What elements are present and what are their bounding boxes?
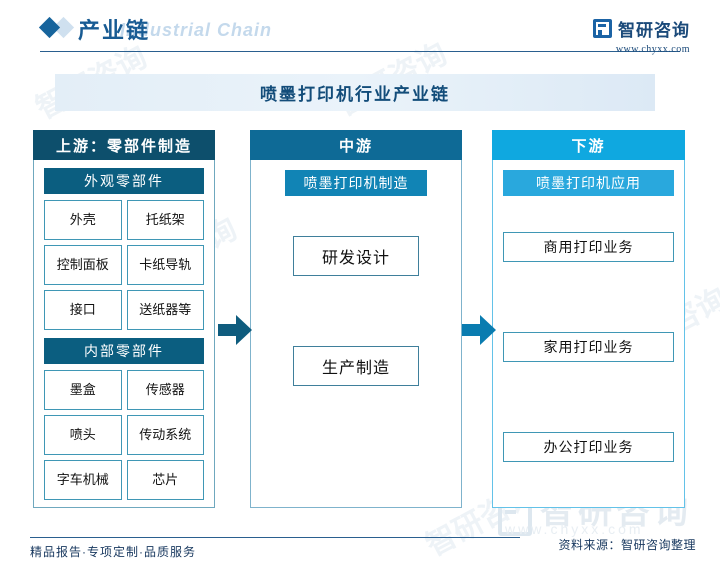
chain-item[interactable]: 商用打印业务 — [503, 232, 674, 262]
chain-item[interactable]: 生产制造 — [293, 346, 419, 386]
chain-item[interactable]: 传感器 — [127, 370, 205, 410]
chain-item[interactable]: 传动系统 — [127, 415, 205, 455]
brand-logo: 智研咨询 www.chyxx.com — [593, 16, 690, 55]
chain-item[interactable]: 芯片 — [127, 460, 205, 500]
group-header-printer-application: 喷墨打印机应用 — [503, 170, 674, 196]
brand-name: 智研咨询 — [618, 16, 690, 41]
header-divider — [40, 51, 680, 52]
footer-source: 资料来源：智研咨询整理 — [558, 536, 696, 553]
chain-item[interactable]: 字车机械 — [44, 460, 122, 500]
column-downstream-body: 喷墨打印机应用 商用打印业务 家用打印业务 办公打印业务 — [492, 160, 685, 508]
brand-mark-icon — [593, 19, 612, 38]
chain-item[interactable]: 办公打印业务 — [503, 432, 674, 462]
column-upstream: 上游：零部件制造 外观零部件 外壳 托纸架 控制面板 卡纸导轨 接口 送纸器等 … — [33, 130, 215, 508]
chain-item[interactable]: 送纸器等 — [127, 290, 205, 330]
column-downstream-header: 下游 — [492, 130, 685, 160]
column-midstream-body: 喷墨打印机制造 研发设计 生产制造 — [250, 160, 462, 508]
group-header-printer-manufacturing: 喷墨打印机制造 — [285, 170, 427, 196]
chain-item[interactable]: 家用打印业务 — [503, 332, 674, 362]
chain-item[interactable]: 墨盒 — [44, 370, 122, 410]
brand-url: www.chyxx.com — [593, 44, 690, 55]
footer-tagline: 精品报告·专项定制·品质服务 — [30, 543, 196, 560]
industry-chain-diagram: 上游：零部件制造 外观零部件 外壳 托纸架 控制面板 卡纸导轨 接口 送纸器等 … — [0, 130, 720, 520]
chain-item[interactable]: 控制面板 — [44, 245, 122, 285]
arrow-upstream-to-midstream — [218, 313, 252, 347]
banner-title: 喷墨打印机行业产业链 — [260, 80, 450, 105]
column-midstream: 中游 喷墨打印机制造 研发设计 生产制造 — [250, 130, 462, 508]
column-downstream: 下游 喷墨打印机应用 商用打印业务 家用打印业务 办公打印业务 — [492, 130, 685, 508]
column-midstream-header: 中游 — [250, 130, 462, 160]
group-grid-internal-parts: 墨盒 传感器 喷头 传动系统 字车机械 芯片 — [44, 370, 204, 500]
chain-item[interactable]: 外壳 — [44, 200, 122, 240]
footer-divider — [30, 537, 520, 538]
group-spacer — [503, 262, 674, 332]
group-grid-exterior-parts: 外壳 托纸架 控制面板 卡纸导轨 接口 送纸器等 — [44, 200, 204, 330]
group-spacer — [265, 196, 447, 236]
page-title: 产业链 — [78, 13, 150, 45]
group-header-internal-parts: 内部零部件 — [44, 338, 204, 364]
group-header-exterior-parts: 外观零部件 — [44, 168, 204, 194]
column-upstream-body: 外观零部件 外壳 托纸架 控制面板 卡纸导轨 接口 送纸器等 内部零部件 墨盒 … — [33, 160, 215, 508]
page-header: Industrial Chain 产业链 智研咨询 www.chyxx.com — [0, 0, 720, 58]
group-spacer — [265, 276, 447, 346]
arrow-midstream-to-downstream — [462, 313, 496, 347]
watermark-url: www.chyxx.com — [505, 521, 644, 537]
group-spacer — [503, 196, 674, 232]
column-upstream-header: 上游：零部件制造 — [33, 130, 215, 160]
group-spacer — [503, 362, 674, 432]
banner: 喷墨打印机行业产业链 — [55, 74, 655, 111]
chain-item[interactable]: 托纸架 — [127, 200, 205, 240]
chain-item[interactable]: 喷头 — [44, 415, 122, 455]
chain-item[interactable]: 卡纸导轨 — [127, 245, 205, 285]
brand-row: 智研咨询 — [593, 16, 690, 41]
diamond-icon — [39, 17, 60, 38]
chain-item[interactable]: 研发设计 — [293, 236, 419, 276]
chain-item[interactable]: 接口 — [44, 290, 122, 330]
group-spacer — [44, 330, 204, 338]
